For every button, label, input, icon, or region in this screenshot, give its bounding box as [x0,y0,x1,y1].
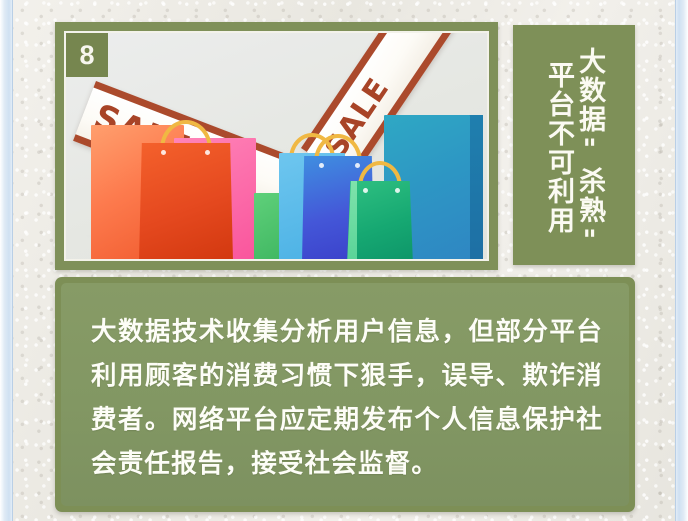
illustration-card-inner-frame: SALE SALE [64,31,489,261]
description-panel-inner: 大数据技术收集分析用户信息，但部分平台利用顾客的消费习惯下狠手，误导、欺诈消费者… [61,283,629,506]
shopping-illustration: SALE SALE [66,33,487,259]
description-panel: 大数据技术收集分析用户信息，但部分平台利用顾客的消费习惯下狠手，误导、欺诈消费者… [55,277,635,512]
step-number-badge: 8 [66,33,108,77]
bag-handle-stud-left [363,188,368,193]
bag-side-highlight [347,181,357,259]
illustration-stage: SALE SALE [66,33,487,259]
bag-handle-stud-left [319,163,324,168]
illustration-card: SALE SALE [55,22,498,270]
description-text: 大数据技术收集分析用户信息，但部分平台利用顾客的消费习惯下狠手，误导、欺诈消费者… [91,311,603,486]
bag-body [139,143,233,259]
shopping-bag-red [139,143,233,259]
vertical-title-line-1: 大数据"杀熟" [575,47,604,258]
bag-handle-stud-right [355,163,360,168]
bag-side-panel [469,115,483,259]
shopping-bag-green-front [347,181,413,259]
page-edge-right-hairline [675,0,676,521]
bag-handle-stud-right [395,188,400,193]
page-edge-left-hairline [12,0,13,521]
page-edge-right [675,0,688,521]
vertical-title-line-2: 平台不可利用 [544,61,573,235]
vertical-title-panel: 大数据"杀熟" 平台不可利用 [513,25,635,265]
top-row: SALE SALE [55,22,635,270]
poster-root: SALE SALE [0,0,688,521]
bag-handle-stud-left [161,150,166,155]
bag-handle-stud-right [205,150,210,155]
